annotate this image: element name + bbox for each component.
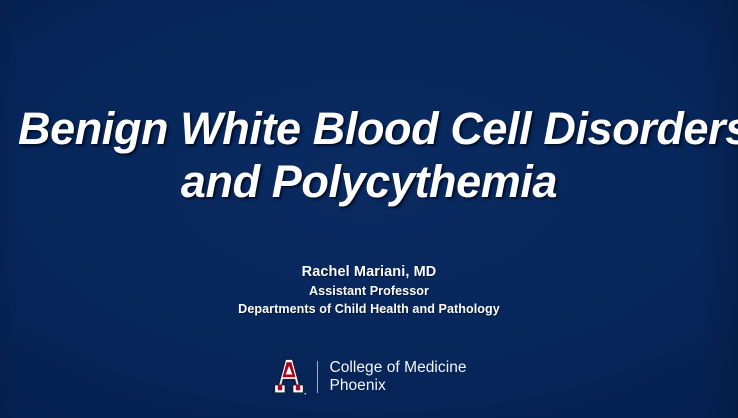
presenter-name: Rachel Mariani, MD: [0, 263, 738, 282]
presenter-role: Assistant Professor: [0, 282, 738, 300]
logo-divider: [317, 361, 318, 393]
title-slide: Benign White Blood Cell Disorders and Po…: [0, 0, 738, 418]
university-of-arizona-block-a-logo-icon: [271, 358, 307, 396]
title-line-2: and Polycythemia: [18, 155, 720, 208]
title-line-1: Benign White Blood Cell Disorders: [18, 102, 720, 155]
presenter-block: Rachel Mariani, MD Assistant Professor D…: [0, 263, 738, 318]
institution-logo-lockup: College of Medicine Phoenix: [0, 358, 738, 396]
logo-wordmark: College of Medicine Phoenix: [329, 359, 466, 395]
slide-background: [0, 0, 738, 418]
presenter-department: Departments of Child Health and Patholog…: [0, 300, 738, 318]
page-title: Benign White Blood Cell Disorders and Po…: [0, 102, 738, 208]
logo-wordmark-line-1: College of Medicine: [329, 359, 466, 377]
logo-wordmark-line-2: Phoenix: [329, 377, 466, 395]
